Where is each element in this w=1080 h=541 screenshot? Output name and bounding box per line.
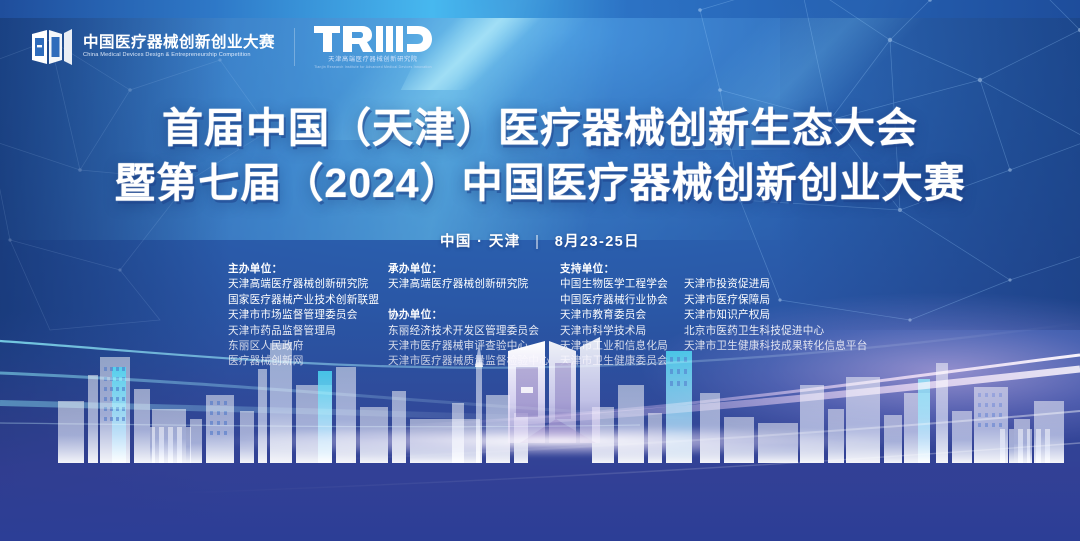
- title-line-1: 首届中国（天津）医疗器械创新生态大会: [0, 101, 1080, 156]
- competition-logo-en: China Medical Devices Design & Entrepren…: [83, 53, 275, 59]
- host-item: 国家医疗器械产业技术创新联盟: [228, 293, 388, 308]
- competition-logo-cn: 中国医疗器械创新创业大赛: [83, 35, 275, 51]
- horizon-light-burst: [194, 423, 1015, 459]
- right-purple-glow: [440, 241, 1080, 501]
- partner-logo-en: Tianjin Research Institute for Advanced …: [314, 66, 432, 69]
- partner-logo-cn: 天津高端医疗器械创新研究院: [328, 57, 418, 63]
- competition-door-mark-icon: [30, 25, 74, 69]
- partner-logo[interactable]: 天津高端医疗器械创新研究院 Tianjin Research Institute…: [314, 24, 432, 70]
- header-logos: 中国医疗器械创新创业大赛 China Medical Devices Desig…: [30, 24, 432, 70]
- event-poster: 中国医疗器械创新创业大赛 China Medical Devices Desig…: [0, 0, 1080, 541]
- header-divider: [294, 28, 295, 66]
- host-item: 天津高端医疗器械创新研究院: [228, 277, 388, 292]
- bottom-scene: [0, 311, 1080, 541]
- triid-wordmark-icon: [314, 24, 432, 54]
- host-heading: 主办单位：: [228, 262, 388, 277]
- competition-logo[interactable]: 中国医疗器械创新创业大赛 China Medical Devices Desig…: [30, 25, 275, 69]
- title-line-2: 暨第七届（2024）中国医疗器械创新创业大赛: [0, 156, 1080, 211]
- poster-title: 首届中国（天津）医疗器械创新生态大会 暨第七届（2024）中国医疗器械创新创业大…: [0, 101, 1080, 210]
- background-top-band: [0, 0, 1080, 18]
